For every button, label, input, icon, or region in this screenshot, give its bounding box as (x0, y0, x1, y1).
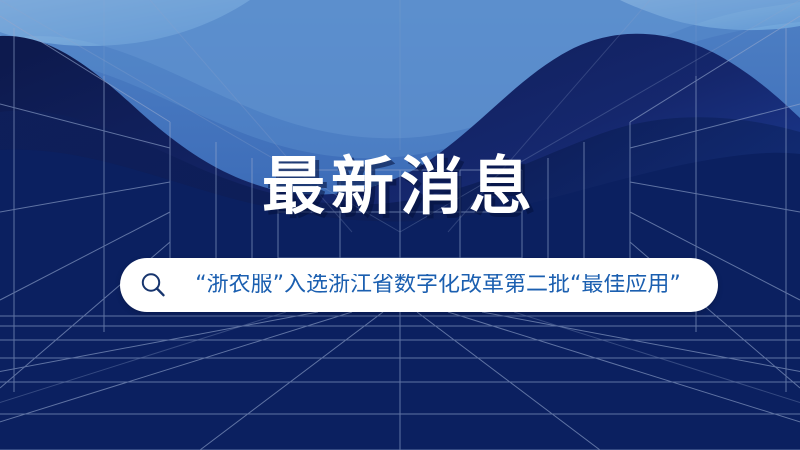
search-bar[interactable]: “浙农服”入选浙江省数字化改革第二批“最佳应用” (120, 258, 718, 312)
page-title: 最新消息 (262, 155, 538, 218)
search-headline[interactable]: “浙农服”入选浙江省数字化改革第二批“最佳应用” (172, 274, 704, 296)
title-block: 最新消息 (0, 155, 800, 218)
search-icon[interactable] (138, 270, 168, 300)
news-banner: 最新消息 “浙农服”入选浙江省数字化改革第二批“最佳应用” (0, 0, 800, 450)
perspective-grid (0, 0, 800, 450)
